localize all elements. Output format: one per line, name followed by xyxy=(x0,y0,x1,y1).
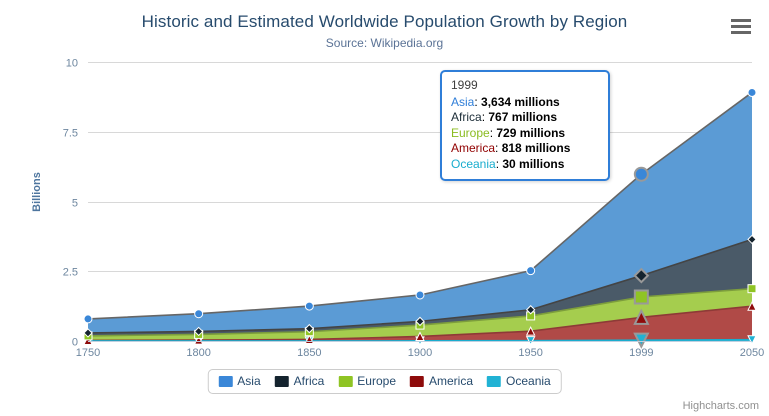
marker-asia[interactable] xyxy=(305,302,313,310)
y-axis-tick-label: 7.5 xyxy=(63,128,78,140)
marker-asia[interactable] xyxy=(84,315,92,323)
y-axis-labels: 02.557.510 xyxy=(63,58,78,349)
legend-swatch-icon xyxy=(410,376,424,387)
plot-area: 02.557.510 1750180018501900195019992050 xyxy=(0,0,769,416)
legend-item-asia[interactable]: Asia xyxy=(218,374,260,388)
highcharts-container: Historic and Estimated Worldwide Populat… xyxy=(0,0,769,416)
marker-asia[interactable] xyxy=(527,267,535,275)
legend-item-america[interactable]: America xyxy=(410,374,473,388)
tooltip-series-name: Oceania xyxy=(451,157,496,171)
legend-swatch-icon xyxy=(218,376,232,387)
x-axis-tick-label: 1999 xyxy=(629,347,653,359)
marker-asia[interactable] xyxy=(748,88,756,96)
x-axis-tick-label: 2050 xyxy=(740,347,764,359)
legend-item-africa[interactable]: Africa xyxy=(275,374,325,388)
x-axis-tick-label: 1950 xyxy=(518,347,542,359)
tooltip-series-value: 3,634 millions xyxy=(481,95,560,109)
tooltip-series-name: Europe xyxy=(451,126,490,140)
tooltip-separator: : xyxy=(495,141,502,155)
tooltip-row: Oceania: 30 millions xyxy=(451,157,599,173)
tooltip-series-value: 818 millions xyxy=(502,141,571,155)
chart-tooltip: 1999 Asia: 3,634 millionsAfrica: 767 mil… xyxy=(440,70,610,181)
y-axis-title: Billions xyxy=(31,152,43,232)
x-axis-labels: 1750180018501900195019992050 xyxy=(76,347,764,359)
tooltip-row: Africa: 767 millions xyxy=(451,110,599,126)
tooltip-row: Europe: 729 millions xyxy=(451,126,599,142)
legend-swatch-icon xyxy=(487,376,501,387)
tooltip-rows: Asia: 3,634 millionsAfrica: 767 millions… xyxy=(451,95,599,173)
chart-legend: AsiaAfricaEuropeAmericaOceania xyxy=(207,369,561,394)
tooltip-series-name: Africa xyxy=(451,110,482,124)
x-axis-tick-label: 1850 xyxy=(297,347,321,359)
legend-item-oceania[interactable]: Oceania xyxy=(487,374,551,388)
legend-label: Europe xyxy=(357,374,396,388)
marker-europe[interactable] xyxy=(748,285,756,293)
y-axis-tick-label: 5 xyxy=(72,198,78,210)
tooltip-series-value: 30 millions xyxy=(502,157,564,171)
tooltip-row: Asia: 3,634 millions xyxy=(451,95,599,111)
x-axis-tick-label: 1800 xyxy=(186,347,210,359)
legend-item-europe[interactable]: Europe xyxy=(338,374,396,388)
marker-europe[interactable] xyxy=(635,291,648,304)
tooltip-separator: : xyxy=(474,95,481,109)
series-areas xyxy=(88,92,752,341)
tooltip-row: America: 818 millions xyxy=(451,141,599,157)
y-axis-tick-label: 10 xyxy=(66,58,78,70)
tooltip-series-value: 729 millions xyxy=(496,126,565,140)
legend-swatch-icon xyxy=(275,376,289,387)
tooltip-header: 1999 xyxy=(451,78,599,95)
legend-label: Asia xyxy=(237,374,260,388)
tooltip-series-name: America xyxy=(451,141,495,155)
marker-asia[interactable] xyxy=(416,291,424,299)
legend-label: Africa xyxy=(294,374,325,388)
tooltip-series-name: Asia xyxy=(451,95,474,109)
marker-asia[interactable] xyxy=(635,168,648,181)
legend-label: Oceania xyxy=(506,374,551,388)
tooltip-series-value: 767 millions xyxy=(488,110,557,124)
marker-asia[interactable] xyxy=(195,310,203,318)
x-axis-tick-label: 1900 xyxy=(408,347,432,359)
x-axis-tick-label: 1750 xyxy=(76,347,100,359)
credits-label[interactable]: Highcharts.com xyxy=(683,400,759,412)
legend-swatch-icon xyxy=(338,376,352,387)
y-axis-tick-label: 2.5 xyxy=(63,267,78,279)
legend-label: America xyxy=(429,374,473,388)
